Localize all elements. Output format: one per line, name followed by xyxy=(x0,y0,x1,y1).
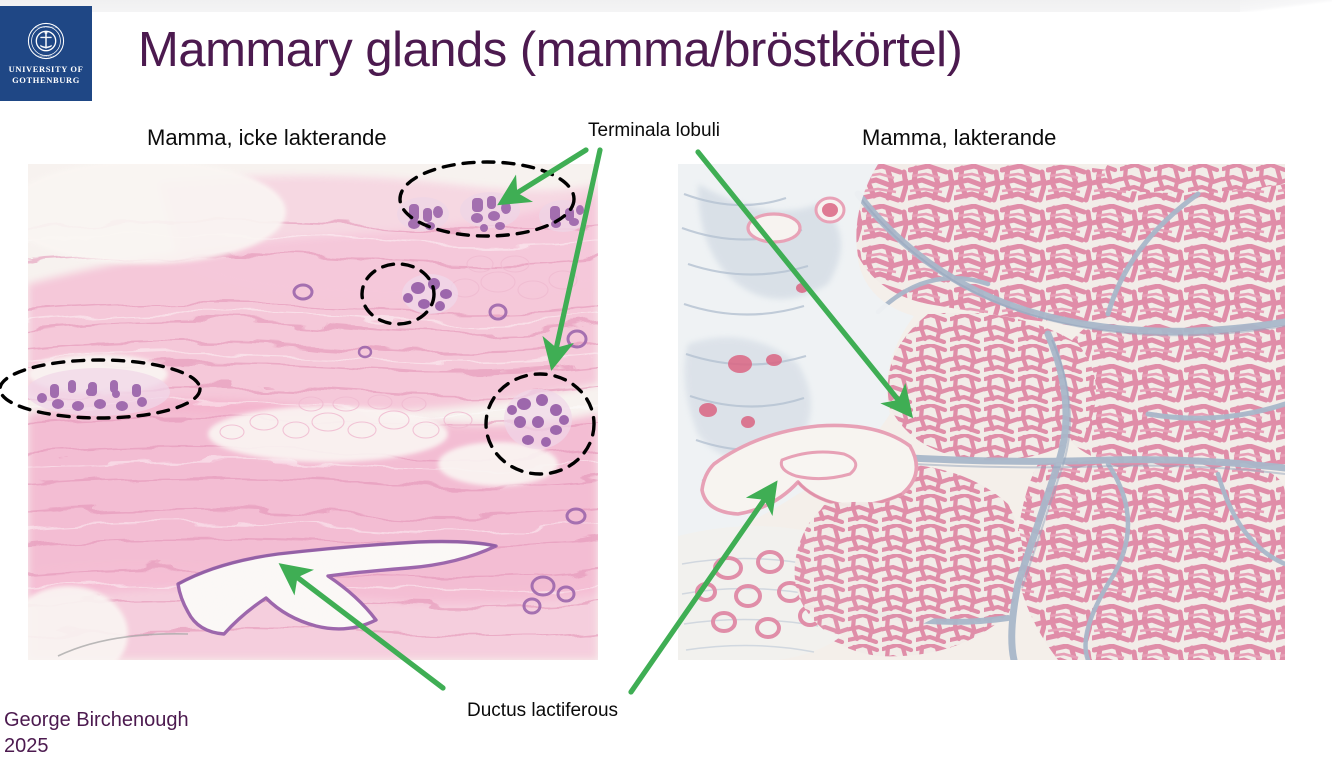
top-band xyxy=(0,0,1240,12)
author-year: 2025 xyxy=(4,733,189,759)
svg-text:UNIVERSITAS: UNIVERSITAS xyxy=(38,54,55,57)
non-lactating-mammary-histology xyxy=(28,164,598,660)
caption-right-panel: Mamma, lakterande xyxy=(862,125,1056,151)
left-histology-render xyxy=(28,164,598,660)
lactating-mammary-histology xyxy=(678,164,1285,660)
logo-line-2: GOTHENBURG xyxy=(12,75,80,86)
university-of-gothenburg-logo: ★ GOTHENBURG ★ UNIVERSITAS UNIVERSITY OF… xyxy=(0,6,92,101)
logo-line-1: UNIVERSITY OF xyxy=(9,64,84,75)
caption-left-panel: Mamma, icke lakterande xyxy=(147,125,387,151)
caption-ductus-lactiferous: Ductus lactiferous xyxy=(467,700,618,722)
slide-canvas: ★ GOTHENBURG ★ UNIVERSITAS UNIVERSITY OF… xyxy=(0,0,1338,770)
page-title: Mammary glands (mamma/bröstkörtel) xyxy=(138,22,962,78)
university-seal-icon: ★ GOTHENBURG ★ UNIVERSITAS xyxy=(27,22,65,60)
footer-author-block: George Birchenough 2025 xyxy=(4,707,189,759)
author-name: George Birchenough xyxy=(4,707,189,733)
right-histology-render xyxy=(678,164,1285,660)
caption-terminala-lobuli: Terminala lobuli xyxy=(588,120,720,142)
svg-text:★ GOTHENBURG ★: ★ GOTHENBURG ★ xyxy=(35,26,58,29)
